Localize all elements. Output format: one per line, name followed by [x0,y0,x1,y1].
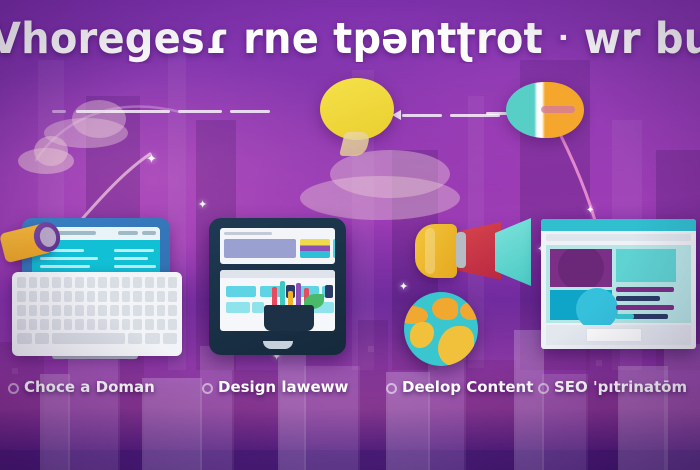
step-marker-1 [8,383,19,394]
step-marker-3 [386,383,397,394]
step-marker-2 [202,383,213,394]
infographic-image: Vhoregesɾ rne tpəntʈrot ᐧ wr busitie ✦ ✦… [0,0,700,470]
step-label-4: SEO 'pıtrinatōm [554,378,687,396]
step-label-1: Choce a Doman [24,378,155,396]
keyboard-icon [12,272,182,356]
step-label-3: Deelop Content [402,378,533,396]
browser-titlebar [541,219,696,231]
browser-address-bar [546,234,691,241]
badge-teal-orange-icon [506,82,584,138]
step-label-2: Design laweww [218,378,348,396]
speech-bubble-yellow-icon [320,78,394,140]
megaphone-icon [415,218,533,288]
small-megaphone-icon [2,216,64,268]
globe-icon [404,292,478,366]
page-title: Vhoregesɾ rne tpəntʈrot ᐧ wr busitie [0,15,700,64]
browser-window-icon [541,219,696,349]
tablet-device-icon [209,218,346,355]
step-marker-4 [538,383,549,394]
badge-slot [541,106,575,113]
